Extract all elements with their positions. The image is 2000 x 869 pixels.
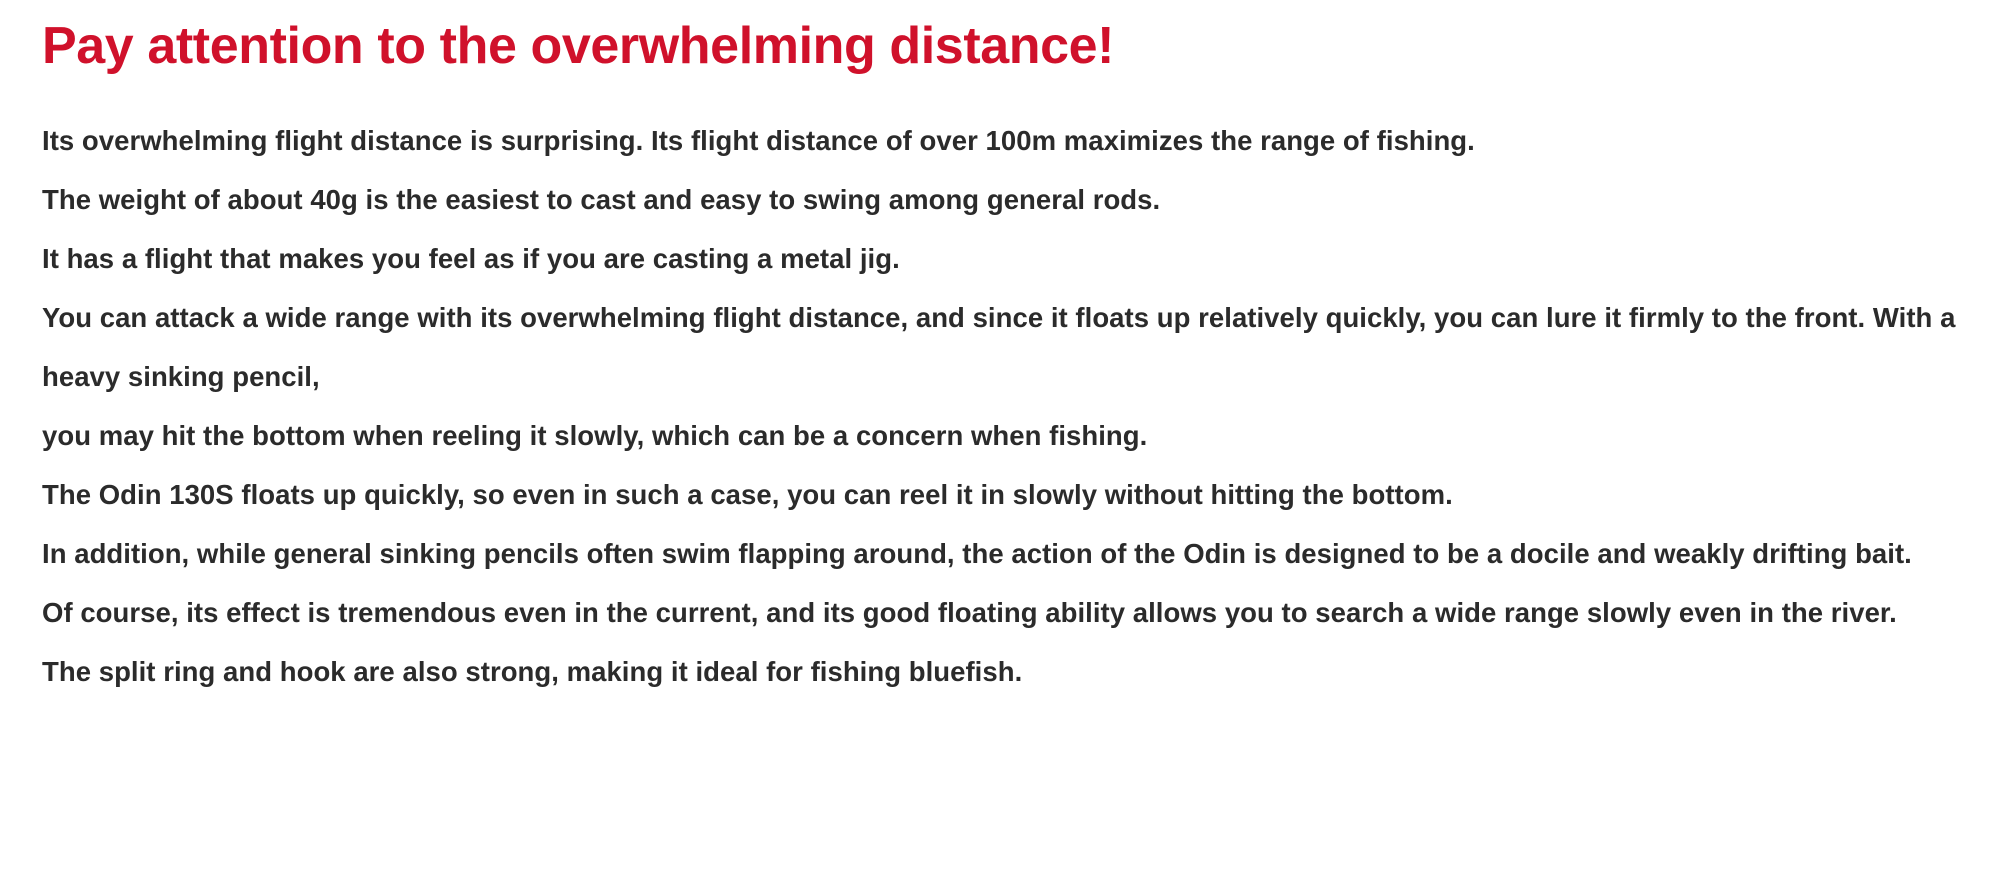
article-body: Its overwhelming flight distance is surp…	[42, 111, 1960, 701]
body-paragraph-6: The Odin 130S floats up quickly, so even…	[42, 465, 1960, 524]
body-paragraph-7: In addition, while general sinking penci…	[42, 524, 1960, 583]
body-paragraph-1: Its overwhelming flight distance is surp…	[42, 111, 1960, 170]
body-paragraph-5: you may hit the bottom when reeling it s…	[42, 406, 1960, 465]
body-paragraph-8: Of course, its effect is tremendous even…	[42, 583, 1960, 642]
body-paragraph-2: The weight of about 40g is the easiest t…	[42, 170, 1960, 229]
page-title: Pay attention to the overwhelming distan…	[42, 16, 1960, 77]
body-paragraph-3: It has a flight that makes you feel as i…	[42, 229, 1960, 288]
article-page: Pay attention to the overwhelming distan…	[0, 0, 2000, 869]
body-paragraph-9: The split ring and hook are also strong,…	[42, 642, 1960, 701]
body-paragraph-4: You can attack a wide range with its ove…	[42, 288, 1960, 406]
